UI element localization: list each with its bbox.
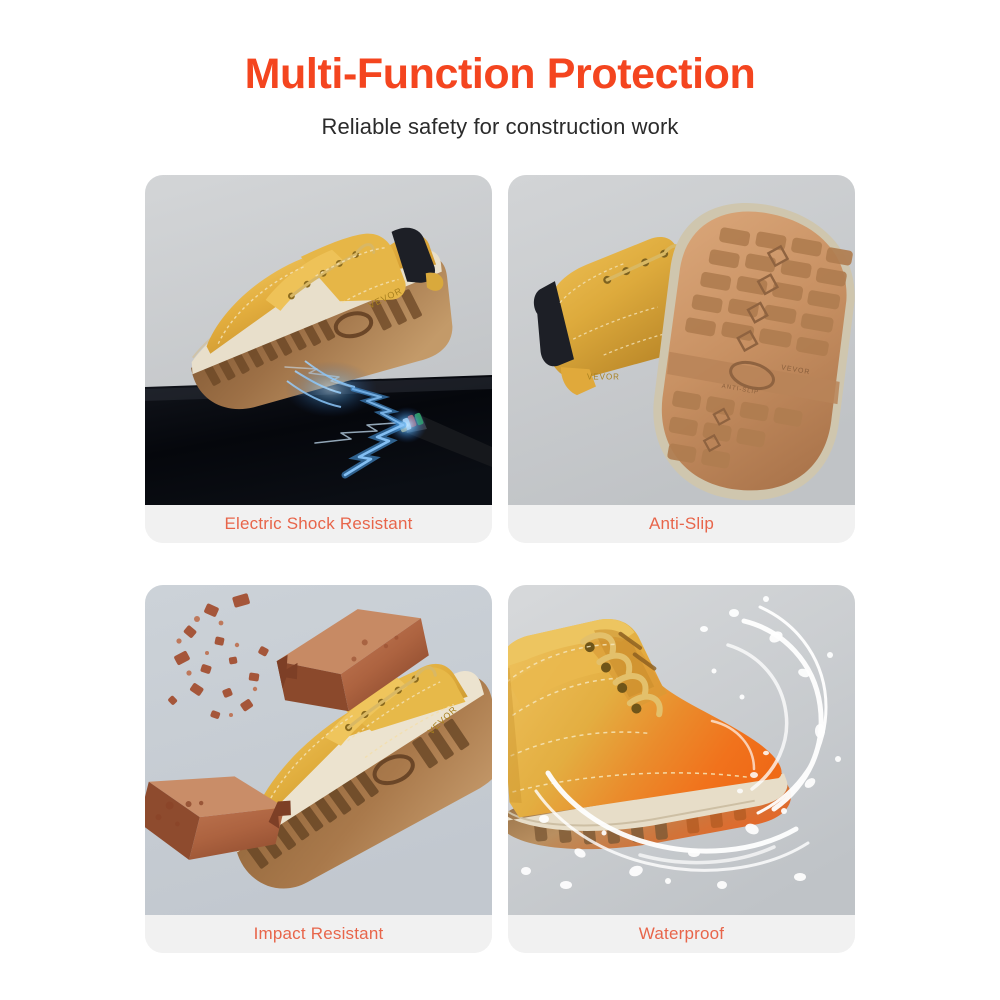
- page-subtitle: Reliable safety for construction work: [0, 114, 1000, 140]
- anti-slip-illustration: VEVOR: [508, 175, 855, 505]
- impact-resistant-illustration: VEVOR: [145, 585, 492, 915]
- feature-card-anti-slip[interactable]: VEVOR: [508, 175, 855, 543]
- electric-shock-photo: VEVOR: [145, 175, 492, 505]
- electric-shock-illustration: VEVOR: [145, 175, 492, 505]
- impact-resistant-photo: VEVOR: [145, 585, 492, 915]
- feature-caption-impact-resistant: Impact Resistant: [145, 915, 492, 953]
- page-title: Multi-Function Protection: [0, 52, 1000, 97]
- feature-card-impact-resistant[interactable]: VEVOR: [145, 585, 492, 953]
- waterproof-photo: [508, 585, 855, 915]
- feature-caption-anti-slip: Anti-Slip: [508, 505, 855, 543]
- waterproof-illustration: [508, 585, 855, 915]
- svg-text:VEVOR: VEVOR: [587, 373, 620, 382]
- page-header: Multi-Function Protection Reliable safet…: [0, 0, 1000, 140]
- feature-caption-waterproof: Waterproof: [508, 915, 855, 953]
- feature-card-grid: VEVOR: [145, 175, 855, 953]
- feature-card-waterproof[interactable]: Waterproof: [508, 585, 855, 953]
- feature-caption-electric-shock-resistant: Electric Shock Resistant: [145, 505, 492, 543]
- product-feature-page: Multi-Function Protection Reliable safet…: [0, 0, 1000, 1000]
- anti-slip-photo: VEVOR: [508, 175, 855, 505]
- feature-card-electric-shock-resistant[interactable]: VEVOR: [145, 175, 492, 543]
